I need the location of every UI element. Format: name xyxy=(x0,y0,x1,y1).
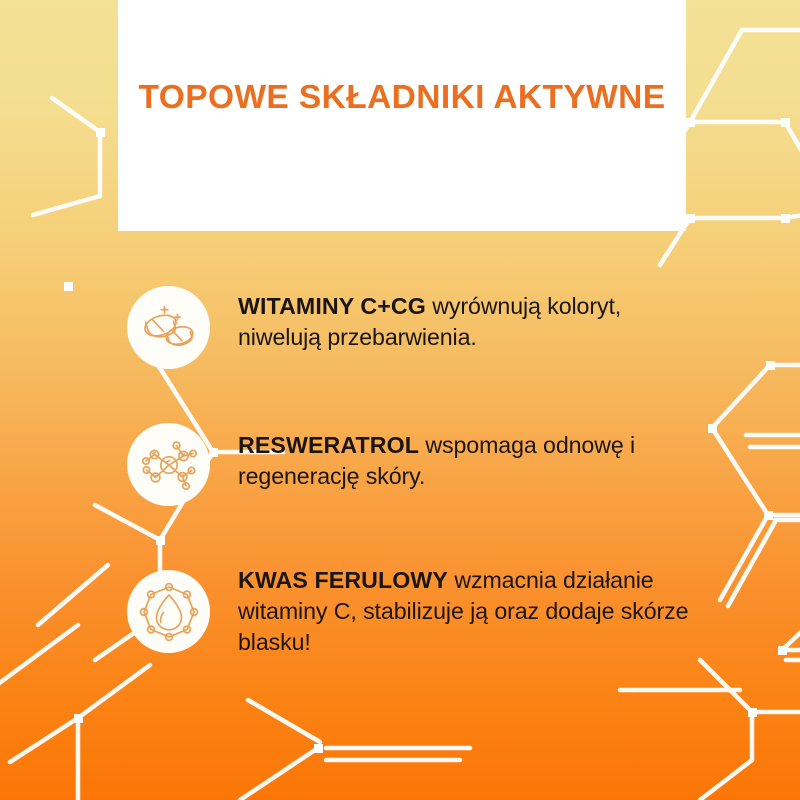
benefit-item-resweratrol: RESWERATROL wspomaga odnowę i regeneracj… xyxy=(0,421,800,506)
benefit-text-resweratrol: RESWERATROL wspomaga odnowę i regeneracj… xyxy=(238,421,696,492)
molecule-icon xyxy=(127,423,210,506)
benefit-highlight-witaminy: WITAMINY C+CG xyxy=(238,293,426,319)
pills-tablets-icon xyxy=(127,286,210,369)
ingredients-poster: TOPOWE SKŁADNIKI AKTYWNE xyxy=(0,0,800,800)
droplet-molecule-icon xyxy=(127,570,210,653)
benefit-text-kwas-ferulowy: KWAS FERULOWY wzmacnia działanie witamin… xyxy=(238,556,696,658)
benefit-item-witaminy: WITAMINY C+CG wyrównują koloryt, niweluj… xyxy=(0,282,800,369)
benefit-highlight-resweratrol: RESWERATROL xyxy=(238,432,419,458)
title-card: TOPOWE SKŁADNIKI AKTYWNE xyxy=(118,0,686,231)
benefit-item-kwas-ferulowy: KWAS FERULOWY wzmacnia działanie witamin… xyxy=(0,556,800,658)
benefit-highlight-kwas-ferulowy: KWAS FERULOWY xyxy=(238,567,448,593)
page-title: TOPOWE SKŁADNIKI AKTYWNE xyxy=(139,80,666,117)
benefits-list: WITAMINY C+CG wyrównują koloryt, niweluj… xyxy=(0,282,800,658)
benefit-text-witaminy: WITAMINY C+CG wyrównują koloryt, niweluj… xyxy=(238,282,696,353)
